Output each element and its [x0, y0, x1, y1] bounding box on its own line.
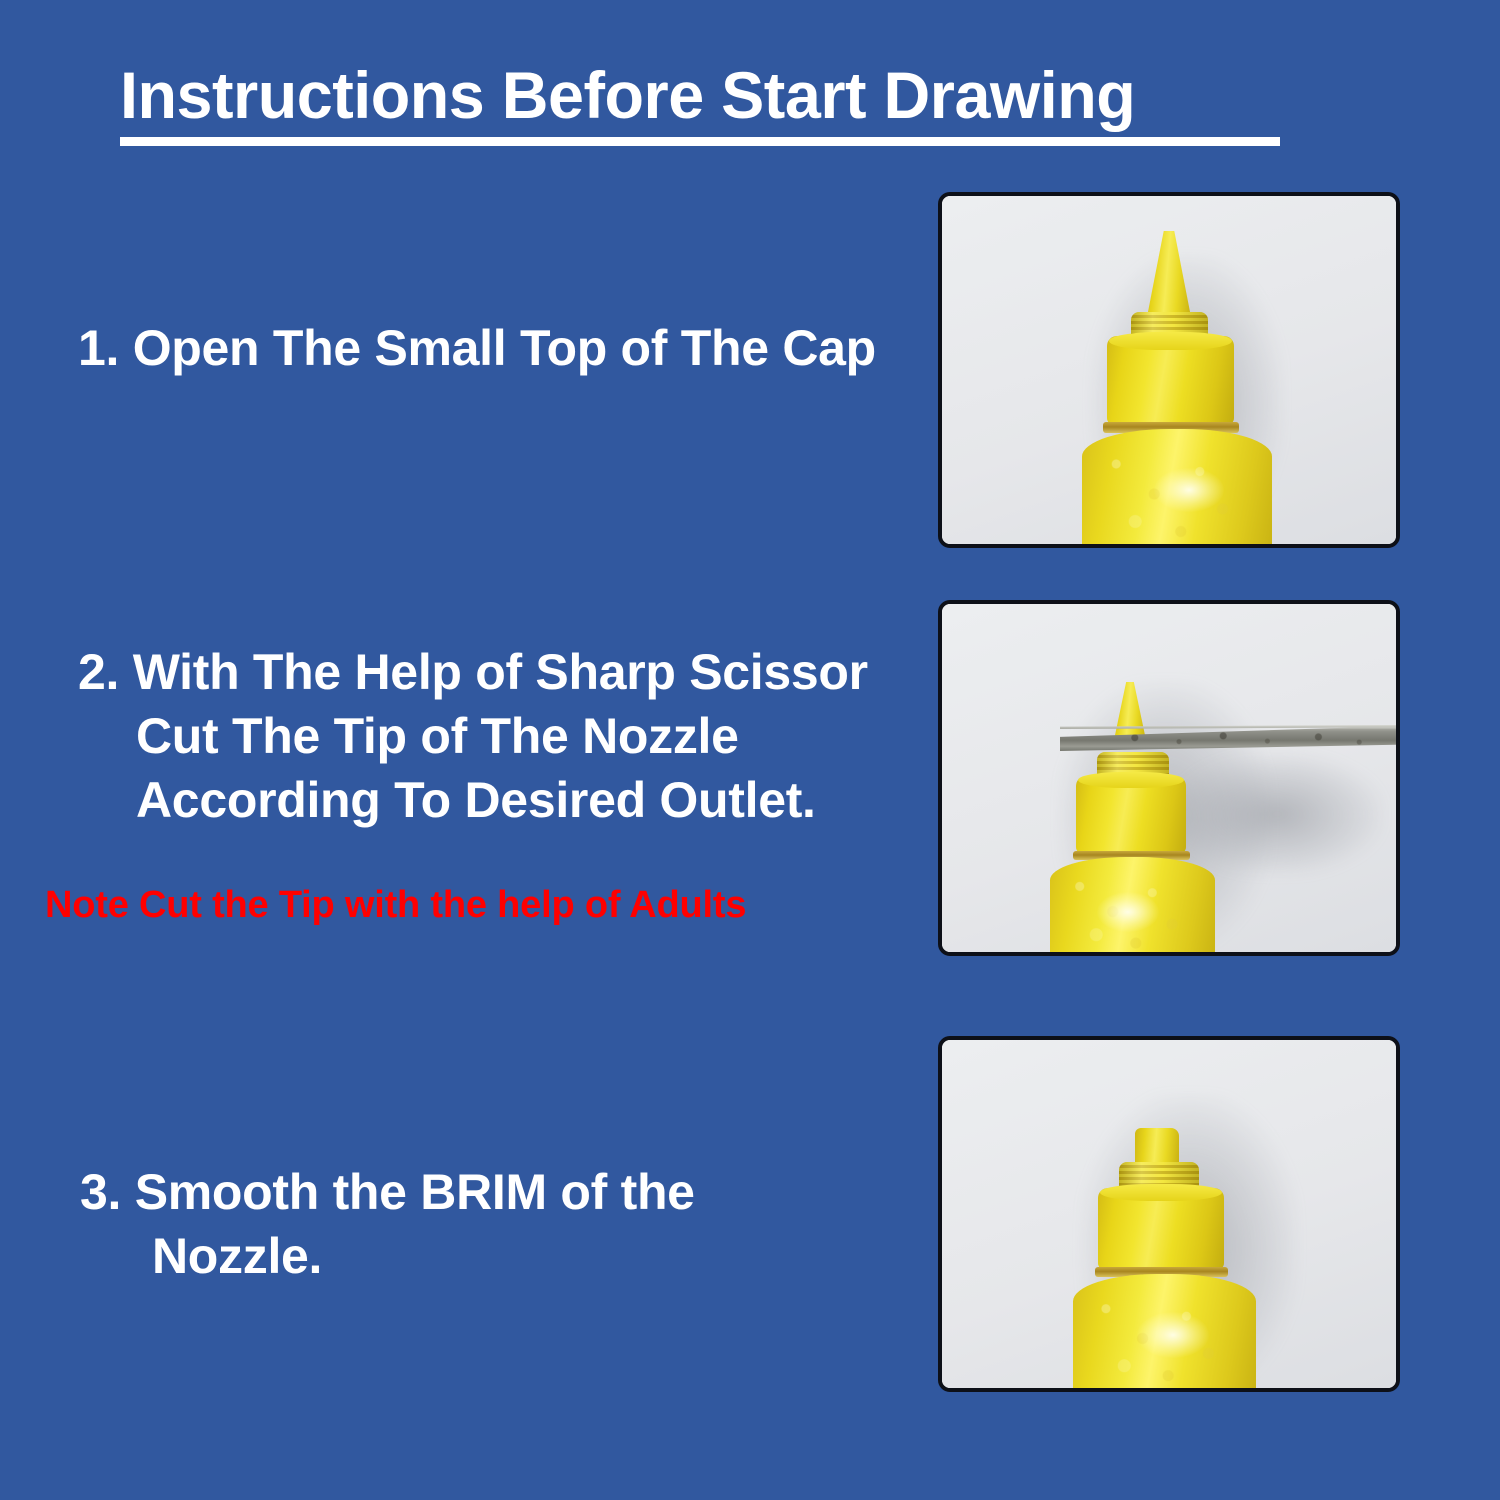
photo-step-2 — [938, 600, 1400, 956]
body-highlight — [1154, 468, 1224, 512]
adult-supervision-note: Note Cut the Tip with the help of Adults — [45, 884, 746, 927]
step-2-text: 2. With The Help of Sharp Scissor Cut Th… — [78, 640, 868, 832]
step-3-text: 3. Smooth the BRIM of the Nozzle. — [80, 1160, 695, 1288]
photo-step-1 — [938, 192, 1400, 548]
steps-column: 1. Open The Small Top of The Cap 2. With… — [0, 0, 930, 1500]
photo-step-3 — [938, 1036, 1400, 1392]
instruction-poster: Instructions Before Start Drawing 1. Ope… — [0, 0, 1500, 1500]
cap-top-ellipse — [1100, 1184, 1222, 1201]
step-2-line-1: 2. With The Help of Sharp Scissor — [78, 640, 868, 704]
body-highlight — [1097, 892, 1159, 932]
step-3-line-2: Nozzle. — [80, 1224, 695, 1288]
step-1-line-1: 1. Open The Small Top of The Cap — [78, 316, 876, 380]
step-3-line-1: 3. Smooth the BRIM of the — [80, 1160, 695, 1224]
body-highlight — [1137, 1312, 1209, 1358]
blade-shadow — [1172, 754, 1382, 874]
step-2-line-2: Cut The Tip of The Nozzle — [78, 704, 868, 768]
step-2-line-3: According To Desired Outlet. — [78, 768, 868, 832]
step-1-text: 1. Open The Small Top of The Cap — [78, 316, 876, 380]
cap-top-ellipse — [1078, 772, 1184, 788]
cap-top-ellipse — [1109, 332, 1232, 350]
